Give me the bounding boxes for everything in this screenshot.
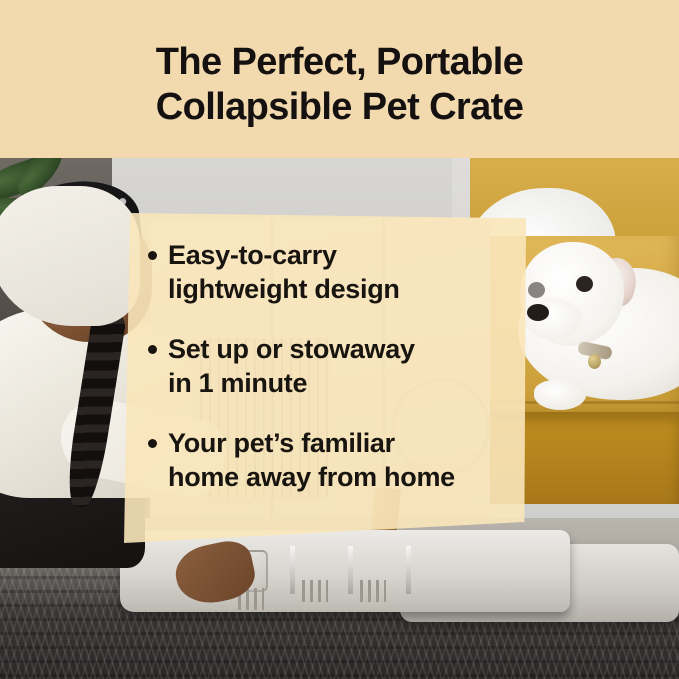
- bullet-line: home away from home: [168, 460, 548, 494]
- person-hood: [0, 186, 140, 326]
- dog-collar-tag: [588, 354, 601, 369]
- bullet-dot-icon: [148, 345, 157, 354]
- bullet-line: Your pet’s familiar: [168, 426, 548, 460]
- title-line-2: Collapsible Pet Crate: [60, 85, 619, 130]
- title-line-1: The Perfect, Portable: [156, 41, 524, 83]
- list-item: Set up or stowaway in 1 minute: [148, 332, 548, 400]
- bullet-line: Easy-to-carry: [168, 238, 548, 272]
- bullet-line: Set up or stowaway: [168, 332, 548, 366]
- bullet-line: lightweight design: [168, 272, 548, 306]
- bullet-dot-icon: [148, 251, 157, 260]
- bullet-dot-icon: [148, 439, 157, 448]
- page-title: The Perfect, Portable Collapsible Pet Cr…: [0, 40, 679, 130]
- bullet-line: in 1 minute: [168, 366, 548, 400]
- bullet-text: Set up or stowaway in 1 minute: [168, 332, 548, 400]
- product-infographic: Easy-to-carry lightweight design Set up …: [0, 0, 679, 679]
- bullet-text: Your pet’s familiar home away from home: [168, 426, 548, 494]
- header-band: The Perfect, Portable Collapsible Pet Cr…: [0, 0, 679, 158]
- list-item: Your pet’s familiar home away from home: [148, 426, 548, 494]
- dog-eye-right: [576, 276, 593, 292]
- bullet-text: Easy-to-carry lightweight design: [168, 238, 548, 306]
- list-item: Easy-to-carry lightweight design: [148, 238, 548, 306]
- feature-bullet-list: Easy-to-carry lightweight design Set up …: [148, 238, 548, 520]
